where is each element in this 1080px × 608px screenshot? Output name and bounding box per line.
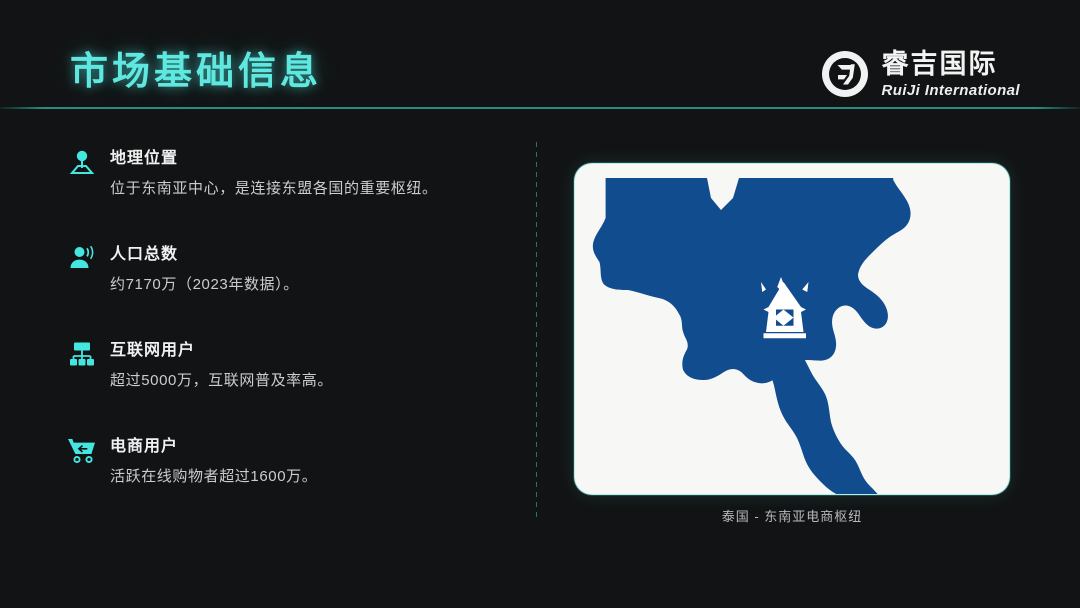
feature-list: 地理位置 位于东南亚中心，是连接东盟各国的重要枢纽。 人口总数 约7170万（2… (62, 140, 502, 528)
feature-title: 人口总数 (110, 240, 502, 264)
column-divider (536, 142, 537, 520)
logo-name-en: RuiJi International (882, 83, 1020, 98)
feature-description: 超过5000万，互联网普及率高。 (110, 371, 502, 391)
slide-header: 市场基础信息 睿吉国际 RuiJi International (0, 0, 1080, 108)
feature-item-ecommerce-users: 电商用户 活跃在线购物者超过1600万。 (62, 432, 502, 502)
slide-canvas: 市场基础信息 睿吉国际 RuiJi International (0, 0, 1080, 608)
user-population-icon (66, 242, 98, 274)
header-divider-rule (0, 107, 1080, 109)
logo-name-cn: 睿吉国际 (882, 51, 1020, 78)
feature-title: 电商用户 (110, 432, 502, 456)
page-title: 市场基础信息 (70, 40, 322, 95)
logo-text-block: 睿吉国际 RuiJi International (882, 51, 1020, 98)
feature-description: 约7170万（2023年数据）。 (110, 275, 502, 295)
location-pin-icon (66, 146, 98, 178)
feature-description: 位于东南亚中心，是连接东盟各国的重要枢纽。 (110, 179, 502, 199)
ruiji-circular-emblem-icon (819, 48, 871, 100)
thailand-map-graphic (575, 164, 1010, 495)
feature-item-location: 地理位置 位于东南亚中心，是连接东盟各国的重要枢纽。 (62, 144, 502, 214)
feature-title: 地理位置 (110, 144, 502, 168)
feature-description: 活跃在线购物者超过1600万。 (110, 467, 502, 487)
feature-item-population: 人口总数 约7170万（2023年数据）。 (62, 240, 502, 310)
feature-item-internet-users: 互联网用户 超过5000万，互联网普及率高。 (62, 336, 502, 406)
map-card (574, 163, 1010, 495)
map-caption: 泰国 - 东南亚电商枢纽 (574, 506, 1010, 525)
brand-logo: 睿吉国际 RuiJi International (819, 46, 1020, 102)
feature-title: 互联网用户 (110, 336, 502, 360)
shopping-cart-icon (66, 434, 98, 466)
network-sitemap-icon (66, 338, 98, 370)
